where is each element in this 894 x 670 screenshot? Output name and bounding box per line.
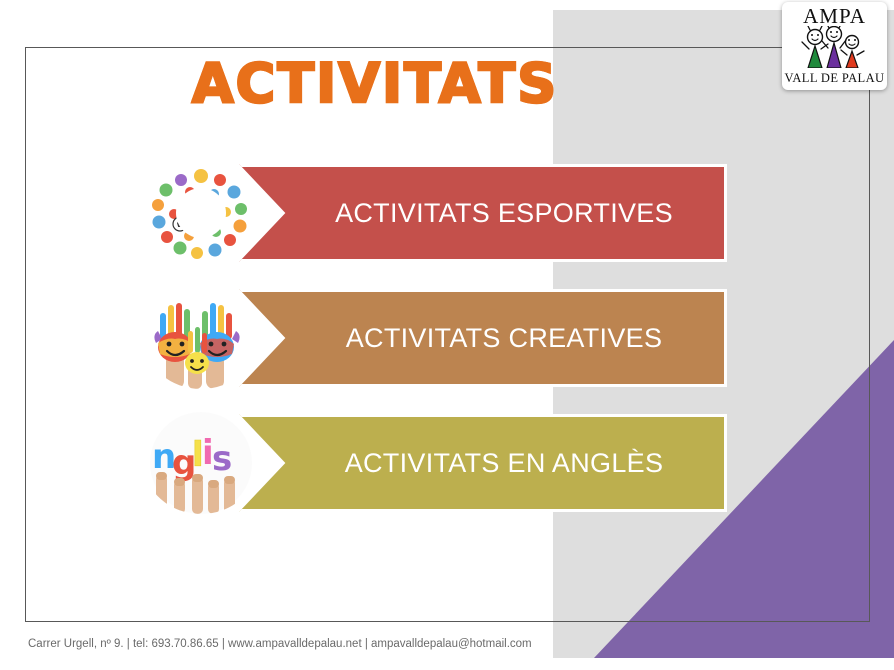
activity-row-creatives[interactable]: ACTIVITATS CREATIVES [144, 287, 734, 389]
logo-subtitle: VALL DE PALAU [782, 71, 887, 86]
banner-esportives[interactable]: ACTIVITATS ESPORTIVES [239, 164, 727, 262]
banner-label-creatives: ACTIVITATS CREATIVES [304, 323, 663, 354]
banner-label-esportives: ACTIVITATS ESPORTIVES [293, 198, 673, 229]
activity-row-esportives[interactable]: ACTIVITATS ESPORTIVES [144, 162, 734, 264]
ampa-logo: AMPA [782, 2, 887, 90]
slide-canvas: ACTIVITATS ACTIVITATS ESPORTIVES [0, 0, 894, 670]
banner-angles[interactable]: ACTIVITATS EN ANGLÈS [239, 414, 727, 512]
sports-collage-icon [144, 162, 258, 264]
activity-row-angles[interactable]: ACTIVITATS EN ANGLÈS n g l i s [144, 412, 734, 514]
footer-contact-info: Carrer Urgell, nº 9. | tel: 693.70.86.65… [28, 638, 532, 650]
logo-figures-icon [782, 26, 887, 68]
banner-label-angles: ACTIVITATS EN ANGLÈS [303, 448, 664, 479]
english-letters-icon: n g l i s [144, 412, 258, 514]
banner-creatives[interactable]: ACTIVITATS CREATIVES [239, 289, 727, 387]
svg-text:s: s [212, 439, 232, 479]
page-title: ACTIVITATS [25, 52, 725, 115]
painted-hands-icon [144, 287, 258, 389]
